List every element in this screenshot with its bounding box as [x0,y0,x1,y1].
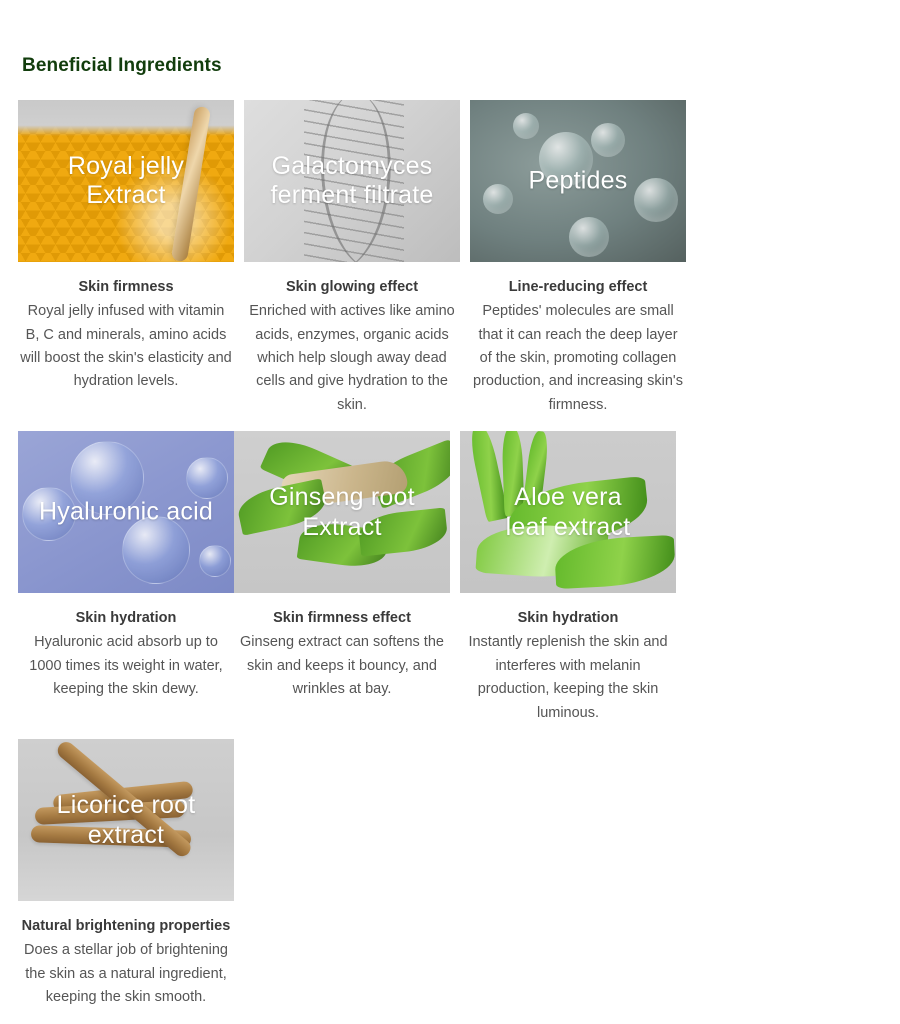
ingredient-card-peptides[interactable]: Peptides Line-reducing effect Peptides' … [470,100,686,417]
card-body-text: Royal jelly infused with vitamin B, C an… [18,300,234,394]
molecule-sphere [483,184,513,214]
card-heading: Skin glowing effect [244,277,460,298]
aloe-illustration [460,431,676,593]
card-heading: Skin firmness effect [234,608,450,629]
page-title: Beneficial Ingredients [18,55,222,77]
royal-jelly-honeycomb-image: Royal jelly Extract [18,100,234,262]
card-body-text: Does a stellar job of brightening the sk… [18,939,234,1009]
molecule-sphere [591,123,625,157]
beneficial-ingredients-page: Beneficial Ingredients Royal jelly Extra… [0,0,900,781]
water-bubbles-illustration [18,431,234,593]
molecule-sphere [569,217,609,257]
ingredient-card-aloe-vera[interactable]: Aloe vera leaf extract Skin hydration In… [460,431,676,725]
ginseng-illustration [234,431,450,593]
hyaluronic-acid-bubbles-image: Hyaluronic acid [18,431,234,593]
card-heading: Skin firmness [18,277,234,298]
water-bubble [186,457,228,499]
ingredient-card-hyaluronic-acid[interactable]: Hyaluronic acid Skin hydration Hyaluroni… [18,431,234,701]
molecule-sphere [539,132,593,186]
card-body-text: Enriched with actives like amino acids, … [244,300,460,417]
molecule-sphere [634,178,678,222]
ingredient-card-grid: Royal jelly Extract Skin firmness Royal … [18,100,884,1024]
water-bubble [122,516,190,584]
molecule-sphere [513,113,539,139]
licorice-illustration [18,739,234,901]
ginseng-root-image: Ginseng root Extract [234,431,450,593]
dna-helix-illustration [244,100,460,262]
card-heading: Skin hydration [18,608,234,629]
water-bubble [199,545,231,577]
card-body-text: Instantly replenish the skin and interfe… [460,631,676,725]
water-bubble [22,487,76,541]
aloe-vera-leaf-image: Aloe vera leaf extract [460,431,676,593]
card-heading: Natural brightening properties [18,916,234,937]
molecule-illustration [470,100,686,262]
ingredient-card-ginseng-root[interactable]: Ginseng root Extract Skin firmness effec… [234,431,450,701]
honeycomb-illustration [18,100,234,262]
card-body-text: Ginseng extract can softens the skin and… [234,631,450,701]
peptides-molecule-image: Peptides [470,100,686,262]
ingredient-card-licorice-root[interactable]: Licorice root extract Natural brightenin… [18,739,234,1009]
licorice-root-image: Licorice root extract [18,739,234,901]
card-body-text: Peptides' molecules are small that it ca… [470,300,686,417]
water-bubble [70,441,144,515]
green-leaf [357,508,449,557]
ingredient-card-galactomyces[interactable]: Galactomyces ferment filtrate Skin glowi… [244,100,460,417]
galactomyces-dna-helix-image: Galactomyces ferment filtrate [244,100,460,262]
card-heading: Skin hydration [460,608,676,629]
ingredient-card-royal-jelly[interactable]: Royal jelly Extract Skin firmness Royal … [18,100,234,394]
card-body-text: Hyaluronic acid absorb up to 1000 times … [18,631,234,701]
card-heading: Line-reducing effect [470,277,686,298]
